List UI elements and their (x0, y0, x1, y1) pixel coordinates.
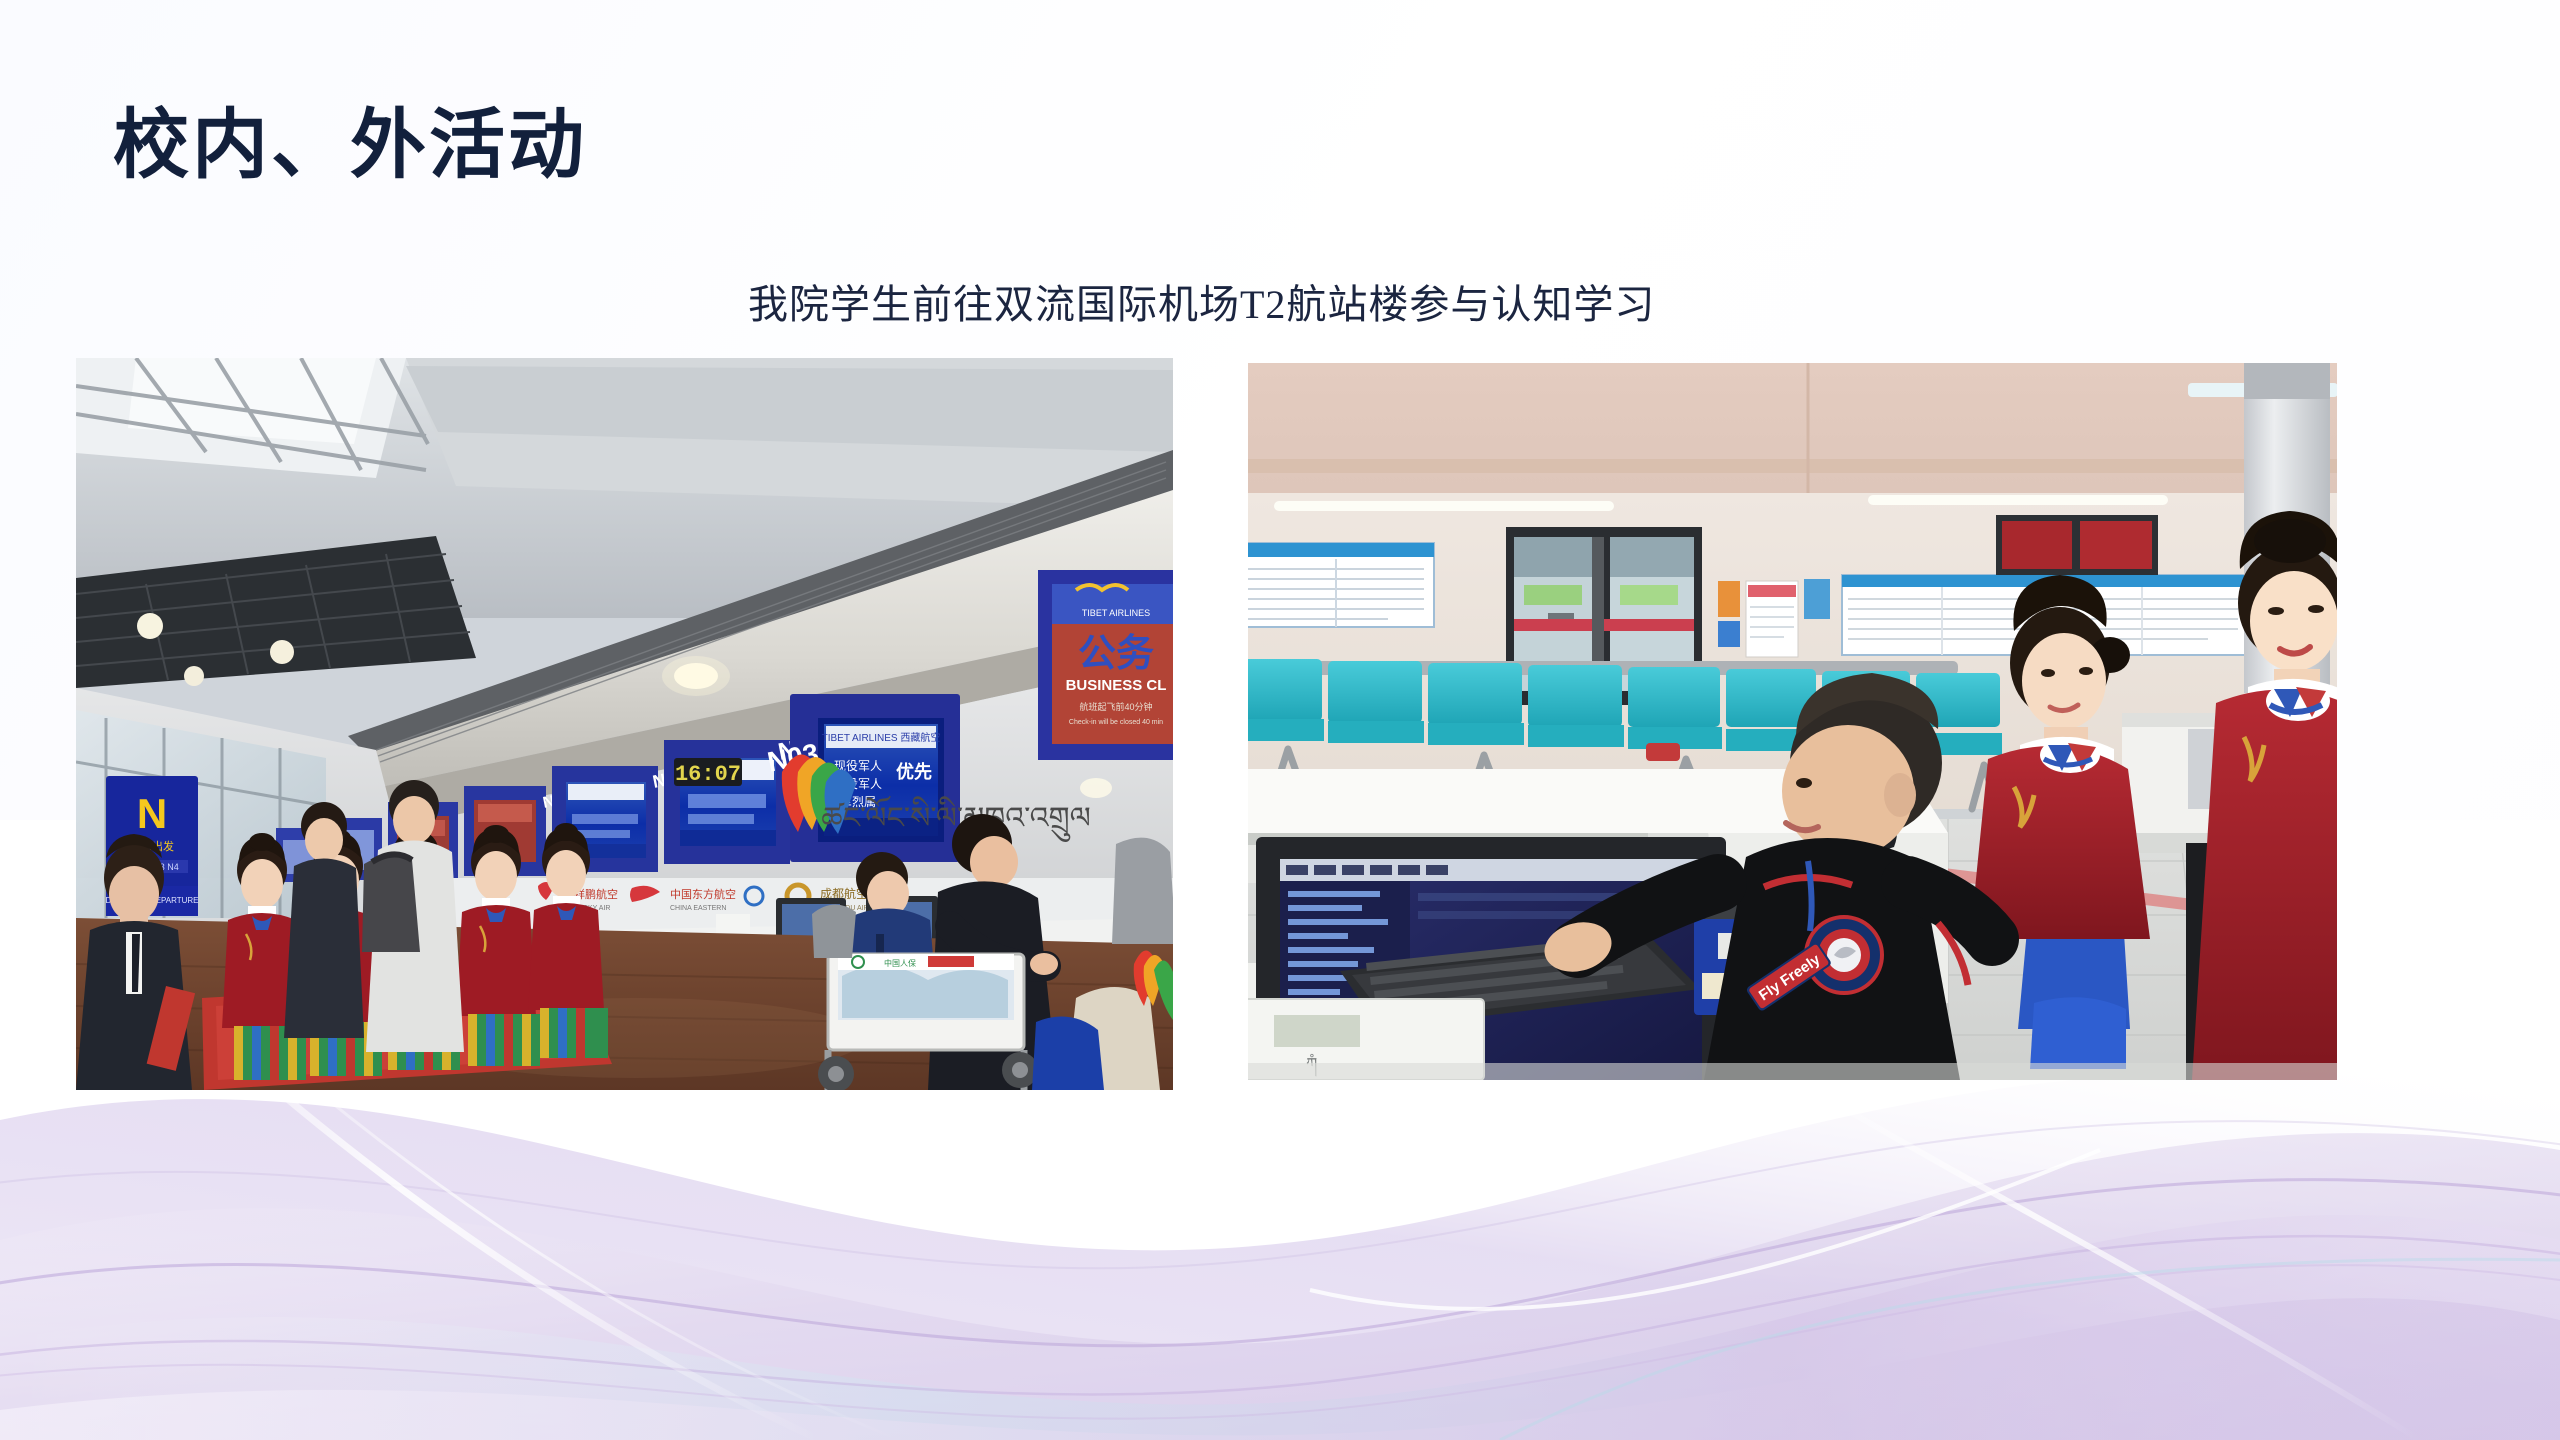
checkin-terminal-demo-illustration: ཀཾ 品牌 ww.anjian (1248, 363, 2337, 1080)
notice-board-left (1248, 543, 1434, 627)
page-title: 校内、外活动 (113, 104, 587, 188)
svg-text:CHINA EASTERN: CHINA EASTERN (670, 905, 726, 912)
svg-text:16:07: 16:07 (675, 762, 741, 787)
page-subtitle: 我院学生前往双流国际机场T2航站楼参与认知学习 (748, 272, 1655, 330)
svg-text:Check-in will be closed 40 min: Check-in will be closed 40 min (1069, 719, 1163, 726)
svg-text:中国人保: 中国人保 (884, 958, 916, 968)
checkin-terminal-demo-photo: ཀཾ 品牌 ww.anjian (1248, 363, 2337, 1080)
svg-text:TIBET AIRLINES 西藏航空: TIBET AIRLINES 西藏航空 (822, 731, 941, 744)
svg-text:中国东方航空: 中国东方航空 (670, 887, 736, 901)
svg-text:TIBET AIRLINES: TIBET AIRLINES (1082, 608, 1150, 618)
airport-checkin-counter-photo: N 国内出发 N1 N2 N3 N4 DOMESTIC DEPARTURE (76, 358, 1173, 1090)
slide-canvas: 校内、外活动 我院学生前往双流国际机场T2航站楼参与认知学习 (0, 0, 2560, 1440)
svg-text:BUSINESS CL: BUSINESS CL (1066, 677, 1167, 694)
svg-text:航班起飞前40分钟: 航班起飞前40分钟 (1079, 701, 1152, 712)
digital-clock: 16:07 (674, 758, 742, 787)
svg-text:N: N (137, 790, 167, 837)
svg-text:公务: 公务 (1078, 633, 1154, 675)
airport-checkin-counter-illustration: N 国内出发 N1 N2 N3 N4 DOMESTIC DEPARTURE (76, 358, 1173, 1090)
business-class-poster: TIBET AIRLINES 公务 BUSINESS CL 航班起飞前40分钟 … (1038, 570, 1173, 760)
svg-text:优先: 优先 (896, 761, 932, 782)
